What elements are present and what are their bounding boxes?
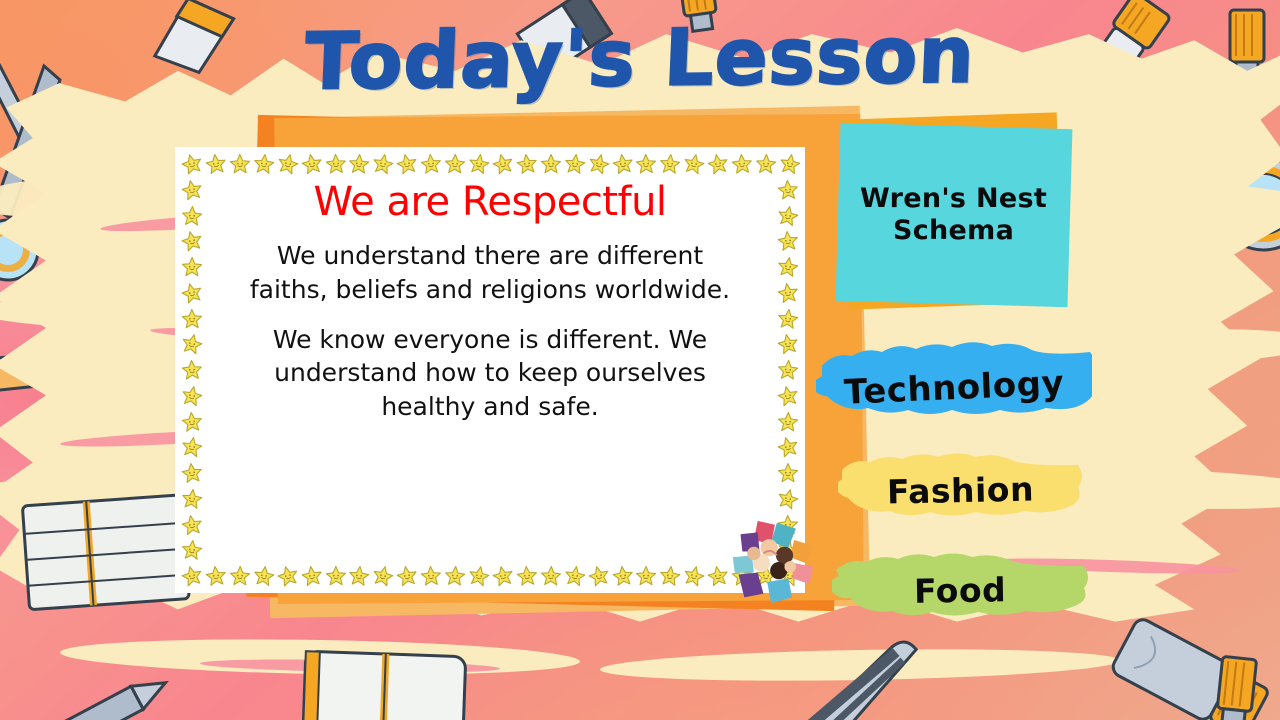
star-icon [181,256,203,278]
star-icon [444,153,466,175]
star-icon [635,153,657,175]
star-icon [564,153,586,175]
star-icon [777,359,799,381]
star-icon [396,153,418,175]
lesson-card-heading: We are Respectful [313,181,666,223]
star-icon [301,565,323,587]
star-icon [181,333,203,355]
star-icon [492,565,514,587]
star-icon [301,153,323,175]
star-icon [540,153,562,175]
star-icon [181,436,203,458]
diverse-people-huddle-icon [725,519,821,607]
notebook-icon [294,643,478,720]
star-icon [564,565,586,587]
paintbrush-icon [1193,649,1277,720]
star-icon [777,385,799,407]
star-icon [755,153,777,175]
star-icon [777,308,799,330]
topic-banner-technology[interactable]: Technology [816,342,1092,434]
star-icon [468,153,490,175]
star-icon [777,436,799,458]
star-icon [659,153,681,175]
slide-canvas: Today's Lesson We are Respectful We unde… [0,0,1280,720]
star-icon [181,411,203,433]
star-icon [420,153,442,175]
star-icon [181,359,203,381]
star-icon [777,179,799,201]
star-icon [277,565,299,587]
star-icon [516,565,538,587]
star-icon [777,333,799,355]
lesson-card: We are Respectful We understand there ar… [175,147,805,593]
lesson-card-paragraph-1: We understand there are different faiths… [240,239,740,307]
star-icon [205,565,227,587]
star-icon [181,205,203,227]
star-icon [612,565,634,587]
star-icon [516,153,538,175]
star-icon [181,488,203,510]
star-icon [588,153,610,175]
star-icon [588,565,610,587]
sticky-note-line-2: Schema [893,215,1014,246]
star-icon [777,256,799,278]
star-icon [181,539,203,561]
star-icon [181,230,203,252]
star-icon [683,565,705,587]
star-icon [777,462,799,484]
star-icon [372,153,394,175]
star-icon [612,153,634,175]
star-icon [492,153,514,175]
star-icon [777,282,799,304]
star-icon [372,565,394,587]
star-icon [540,565,562,587]
star-icon [181,385,203,407]
star-icon [229,565,251,587]
star-icon [777,230,799,252]
star-icon [777,411,799,433]
star-icon [348,153,370,175]
topic-label-fashion: Fashion [886,469,1034,511]
star-icon [229,153,251,175]
page-title: Today's Lesson [0,7,1280,110]
sticky-note-line-1: Wren's Nest [860,183,1047,214]
star-icon [777,205,799,227]
topic-banner-food[interactable]: Food [832,548,1088,632]
topic-banner-fashion[interactable]: Fashion [838,448,1082,532]
star-icon [635,565,657,587]
star-icon [325,153,347,175]
star-icon [325,565,347,587]
star-icon [181,153,203,175]
star-icon [181,179,203,201]
star-icon [444,565,466,587]
star-icon [468,565,490,587]
star-icon [779,153,801,175]
star-icon [253,565,275,587]
lesson-card-content: We are Respectful We understand there ar… [211,181,769,559]
sticky-note-wrens-nest-schema[interactable]: Wren's Nest Schema [836,123,1073,307]
star-icon [683,153,705,175]
star-icon [277,153,299,175]
star-icon [707,153,729,175]
star-icon [181,514,203,536]
star-icon [731,153,753,175]
star-icon [181,462,203,484]
star-icon [181,282,203,304]
star-icon [659,565,681,587]
star-icon [777,488,799,510]
sticky-note-label: Wren's Nest Schema [860,183,1047,247]
star-icon [348,565,370,587]
star-icon [420,565,442,587]
star-icon [205,153,227,175]
star-icon [253,153,275,175]
topic-label-food: Food [914,570,1007,611]
star-icon [181,308,203,330]
star-icon [181,565,203,587]
star-icon [396,565,418,587]
lesson-card-paragraph-2: We know everyone is different. We unders… [240,323,740,424]
